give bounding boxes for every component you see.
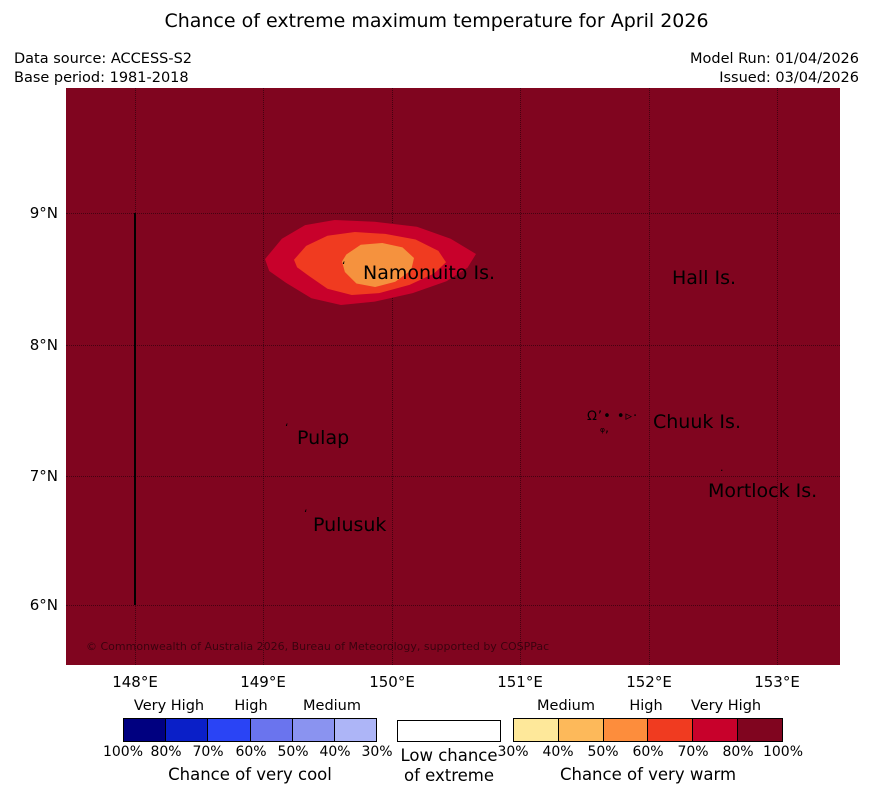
gridline-longitude-149E — [263, 88, 264, 665]
place-label-namonuito: Namonuito Is. — [363, 262, 495, 284]
legend-cool-swatch-70 — [208, 719, 250, 741]
legend-warm-tick-50: 50% — [587, 744, 618, 760]
legend-low-caption-line1: Low chance — [397, 746, 501, 766]
metadata-left: Data source: ACCESS-S2 Base period: 1981… — [14, 50, 192, 88]
legend-warm-tick-100: 100% — [763, 744, 803, 760]
gridline-latitude-8N — [66, 345, 840, 346]
gridline-longitude-153E — [777, 88, 778, 665]
base-period-text: Base period: 1981-2018 — [14, 69, 192, 88]
island-mark-pulap: ʻ — [285, 422, 289, 433]
xtick-149E: 149°E — [240, 673, 286, 691]
ytick-7N: 7°N — [0, 467, 58, 485]
legend-cool-tick-70: 70% — [192, 744, 223, 760]
xtick-153E: 153°E — [754, 673, 800, 691]
legend-warm-swatch-70 — [693, 719, 738, 741]
island-mark-chuuk: Ωʼ• •▹‧ — [587, 410, 638, 423]
gridline-longitude-150E — [392, 88, 393, 665]
legend-warm-qual-medium: Medium — [537, 698, 595, 714]
legend-warm-tick-40: 40% — [542, 744, 573, 760]
gridline-latitude-6N — [66, 605, 840, 606]
place-label-pulap: Pulap — [297, 427, 349, 449]
metadata-right: Model Run: 01/04/2026 Issued: 03/04/2026 — [690, 50, 859, 88]
legend-cool-swatch-100 — [124, 719, 166, 741]
place-label-pulusuk: Pulusuk — [313, 514, 386, 536]
xtick-150E: 150°E — [369, 673, 415, 691]
legend-warm-tick-70: 70% — [677, 744, 708, 760]
legend-cool-tick-80: 80% — [150, 744, 181, 760]
legend-cool-swatch-80 — [166, 719, 208, 741]
legend-warm-tick-80: 80% — [722, 744, 753, 760]
xtick-148E: 148°E — [112, 673, 158, 691]
ytick-9N: 9°N — [0, 204, 58, 222]
legend-cool-qual-very-high: Very High — [134, 698, 204, 714]
legend-warm-swatch-60 — [648, 719, 693, 741]
xtick-152E: 152°E — [626, 673, 672, 691]
ytick-6N: 6°N — [0, 596, 58, 614]
legend-cool-caption: Chance of very cool — [123, 765, 377, 784]
legend-cool-swatch-60 — [251, 719, 293, 741]
page-title: Chance of extreme maximum temperature fo… — [0, 10, 873, 32]
boundary-line — [134, 213, 136, 605]
legend-cool-qualitative-row: Very High High Medium — [123, 698, 377, 718]
issued-text: Issued: 03/04/2026 — [690, 69, 859, 88]
legend-warm-swatch-40 — [559, 719, 604, 741]
gridline-longitude-152E — [649, 88, 650, 665]
legend-cool-swatch-50 — [293, 719, 335, 741]
island-mark-chuuk-lower: ᵩ‚ — [600, 422, 609, 434]
legend-cool-tick-100: 100% — [103, 744, 143, 760]
legend-warm-tick-30: 30% — [497, 744, 528, 760]
place-label-hall: Hall Is. — [672, 267, 736, 289]
legend-warm: Medium High Very High 30% 40% 50% 60% 70… — [513, 698, 783, 784]
legend-warm-swatch-30 — [514, 719, 559, 741]
legend-low-chance: Low chance of extreme — [397, 720, 501, 786]
legend-warm-tick-60: 60% — [632, 744, 663, 760]
legend-warm-qual-high: High — [629, 698, 662, 714]
legend-area: Very High High Medium 100% 80% 70% 60% 5… — [0, 698, 873, 804]
gridline-latitude-7N — [66, 476, 840, 477]
legend-cool-tick-30: 30% — [361, 744, 392, 760]
legend-warm-swatch-80 — [738, 719, 782, 741]
model-run-text: Model Run: 01/04/2026 — [690, 50, 859, 69]
legend-warm-qual-very-high: Very High — [691, 698, 761, 714]
legend-warm-tick-row: 30% 40% 50% 60% 70% 80% 100% — [513, 744, 783, 764]
legend-low-swatch — [397, 720, 501, 742]
gridline-longitude-151E — [520, 88, 521, 665]
legend-cool-swatch-row — [123, 718, 377, 742]
legend-warm-caption: Chance of very warm — [513, 765, 783, 784]
island-mark-namonuito: ʻ — [342, 260, 346, 271]
legend-cool-qual-high: High — [234, 698, 267, 714]
legend-cool-tick-40: 40% — [319, 744, 350, 760]
legend-warm-swatch-row — [513, 718, 783, 742]
xtick-151E: 151°E — [497, 673, 543, 691]
map-credit-text: © Commonwealth of Australia 2026, Bureau… — [86, 640, 549, 653]
legend-cool-tick-50: 50% — [277, 744, 308, 760]
legend-warm-qualitative-row: Medium High Very High — [513, 698, 783, 718]
legend-cool-tick-60: 60% — [235, 744, 266, 760]
legend-warm-swatch-50 — [604, 719, 649, 741]
map-plot-area[interactable]: ʻ ʻ ʻ · Ωʼ• •▹‧ ᵩ‚ Namonuito Is. Hall Is… — [66, 88, 840, 665]
data-source-text: Data source: ACCESS-S2 — [14, 50, 192, 69]
legend-cool-swatch-40 — [335, 719, 376, 741]
place-label-chuuk: Chuuk Is. — [653, 411, 741, 433]
legend-low-caption-line2: of extreme — [397, 766, 501, 786]
gridline-latitude-9N — [66, 213, 840, 214]
place-label-mortlock: Mortlock Is. — [708, 480, 817, 502]
legend-cool: Very High High Medium 100% 80% 70% 60% 5… — [123, 698, 377, 784]
island-mark-pulusuk: ʻ — [304, 508, 308, 519]
island-mark-mortlock: · — [720, 465, 724, 476]
legend-cool-qual-medium: Medium — [303, 698, 361, 714]
ytick-8N: 8°N — [0, 336, 58, 354]
legend-cool-tick-row: 100% 80% 70% 60% 50% 40% 30% — [123, 744, 377, 764]
